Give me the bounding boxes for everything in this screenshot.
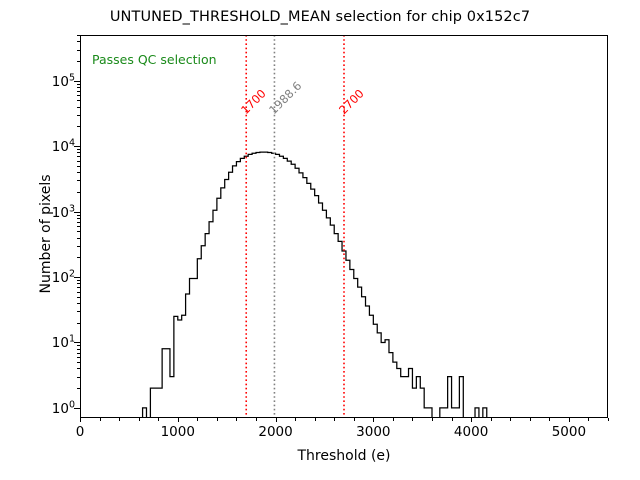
x-minor-tick xyxy=(334,418,335,421)
x-minor-tick xyxy=(491,418,492,421)
x-minor-tick xyxy=(452,418,453,421)
x-tick-label: 5000 xyxy=(552,424,586,440)
x-tick xyxy=(276,418,277,422)
x-tick-label: 0 xyxy=(76,424,85,440)
y-minor-tick xyxy=(77,368,81,369)
x-axis-label: Threshold (e) xyxy=(80,448,608,464)
x-tick-label: 3000 xyxy=(356,424,390,440)
x-tick xyxy=(569,418,570,422)
y-tick-label: 104 xyxy=(52,137,75,155)
x-tick xyxy=(80,418,81,422)
y-minor-tick xyxy=(77,180,81,181)
y-minor-tick xyxy=(77,345,81,346)
x-minor-tick xyxy=(608,418,609,421)
y-axis-label: Number of pixels xyxy=(38,104,54,364)
y-minor-tick xyxy=(77,323,81,324)
y-minor-tick xyxy=(77,152,81,153)
y-minor-tick xyxy=(77,362,81,363)
y-minor-tick xyxy=(77,87,81,88)
y-minor-tick xyxy=(77,283,81,284)
x-minor-tick xyxy=(100,418,101,421)
x-minor-tick xyxy=(588,418,589,421)
x-tick xyxy=(471,418,472,422)
y-minor-tick xyxy=(77,311,81,312)
y-tick-label: 103 xyxy=(52,203,75,221)
y-minor-tick xyxy=(77,238,81,239)
y-minor-tick xyxy=(77,107,81,108)
x-minor-tick xyxy=(393,418,394,421)
x-minor-tick xyxy=(549,418,550,421)
y-minor-tick xyxy=(77,353,81,354)
y-minor-tick xyxy=(77,41,81,42)
x-minor-tick xyxy=(412,418,413,421)
qc-status-annotation: Passes QC selection xyxy=(92,52,217,67)
y-minor-tick xyxy=(77,100,81,101)
figure-canvas: UNTUNED_THRESHOLD_MEAN selection for chi… xyxy=(0,0,640,480)
x-minor-tick xyxy=(197,418,198,421)
y-minor-tick xyxy=(77,231,81,232)
x-minor-tick xyxy=(119,418,120,421)
y-minor-tick xyxy=(77,377,81,378)
y-minor-tick xyxy=(77,166,81,167)
y-tick-label: 102 xyxy=(52,268,75,286)
y-minor-tick xyxy=(77,246,81,247)
x-minor-tick xyxy=(236,418,237,421)
x-tick-label: 4000 xyxy=(454,424,488,440)
x-minor-tick xyxy=(139,418,140,421)
y-minor-tick xyxy=(77,215,81,216)
y-minor-tick xyxy=(77,292,81,293)
y-minor-tick xyxy=(77,161,81,162)
y-minor-tick xyxy=(77,192,81,193)
x-tick-label: 2000 xyxy=(258,424,292,440)
y-minor-tick xyxy=(77,257,81,258)
y-minor-tick xyxy=(77,388,81,389)
y-minor-tick xyxy=(77,303,81,304)
y-minor-tick xyxy=(77,297,81,298)
y-minor-tick xyxy=(77,287,81,288)
y-minor-tick xyxy=(77,50,81,51)
y-tick-label: 100 xyxy=(52,399,75,417)
y-minor-tick xyxy=(77,218,81,219)
x-minor-tick xyxy=(354,418,355,421)
y-tick-label: 101 xyxy=(52,334,75,352)
y-minor-tick xyxy=(77,84,81,85)
y-minor-tick xyxy=(77,61,81,62)
y-minor-tick xyxy=(77,226,81,227)
y-minor-tick xyxy=(77,35,81,36)
y-minor-tick xyxy=(77,357,81,358)
x-minor-tick xyxy=(315,418,316,421)
y-minor-tick xyxy=(77,149,81,150)
x-minor-tick xyxy=(295,418,296,421)
y-minor-tick xyxy=(77,91,81,92)
x-minor-tick xyxy=(158,418,159,421)
y-tick-label: 105 xyxy=(52,72,75,90)
chart-title: UNTUNED_THRESHOLD_MEAN selection for chi… xyxy=(0,9,640,25)
y-minor-tick xyxy=(77,349,81,350)
y-minor-tick xyxy=(77,115,81,116)
x-minor-tick xyxy=(432,418,433,421)
y-minor-tick xyxy=(77,156,81,157)
y-minor-tick xyxy=(77,222,81,223)
x-minor-tick xyxy=(510,418,511,421)
y-minor-tick xyxy=(77,95,81,96)
x-tick xyxy=(373,418,374,422)
x-tick-label: 1000 xyxy=(161,424,195,440)
axes-frame xyxy=(80,35,608,418)
x-tick xyxy=(178,418,179,422)
x-minor-tick xyxy=(530,418,531,421)
y-minor-tick xyxy=(77,172,81,173)
x-minor-tick xyxy=(217,418,218,421)
x-minor-tick xyxy=(256,418,257,421)
y-minor-tick xyxy=(77,126,81,127)
y-minor-tick xyxy=(77,280,81,281)
